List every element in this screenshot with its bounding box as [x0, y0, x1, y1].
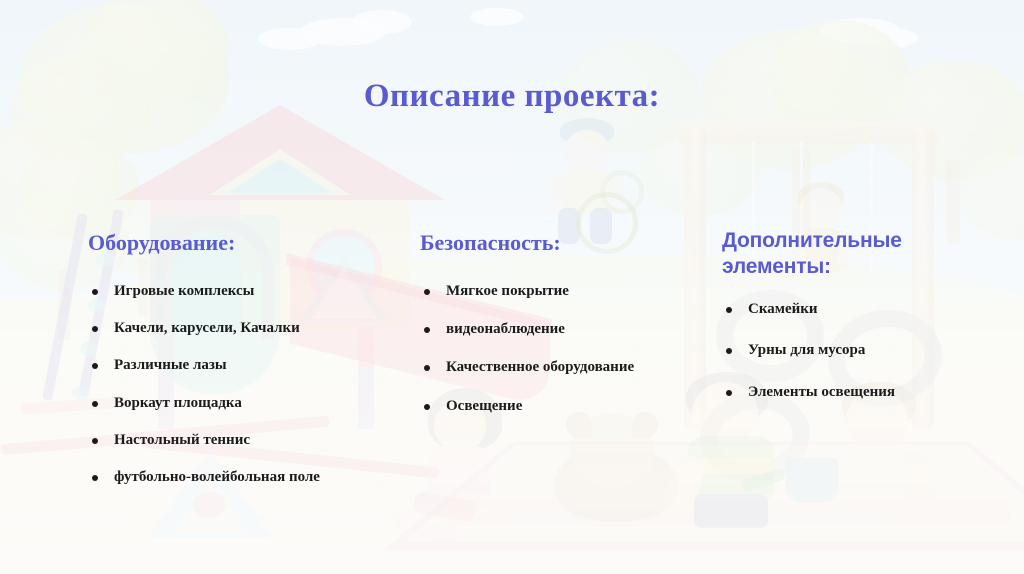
equipment-list: Игровые комплексы Качели, карусели, Кача… — [88, 283, 320, 487]
list-item: Воркаут площадка — [88, 395, 320, 412]
list-item: Мягкое покрытие — [420, 283, 634, 300]
presentation-slide: Описание проекта: Оборудование: Игровые … — [0, 0, 1024, 574]
column-extra-elements: Дополнительные элементы: Скамейки Урны д… — [722, 228, 962, 425]
list-item: футбольно-волейбольная поле — [88, 469, 320, 486]
list-item: Качели, карусели, Качалки — [88, 320, 320, 337]
list-item: Различные лазы — [88, 357, 320, 374]
column-heading-safety: Безопасность: — [420, 230, 634, 257]
list-item: Скамейки — [722, 301, 962, 318]
list-item: Элементы освещения — [722, 384, 962, 401]
slide-content: Описание проекта: Оборудование: Игровые … — [0, 0, 1024, 574]
list-item: Качественное оборудование — [420, 359, 634, 376]
safety-list: Мягкое покрытие видеонаблюдение Качестве… — [420, 283, 634, 415]
page-title: Описание проекта: — [0, 78, 1024, 115]
column-equipment: Оборудование: Игровые комплексы Качели, … — [88, 230, 320, 506]
list-item: видеонаблюдение — [420, 321, 634, 338]
list-item: Освещение — [420, 398, 634, 415]
list-item: Игровые комплексы — [88, 283, 320, 300]
column-heading-extra-elements: Дополнительные элементы: — [722, 228, 962, 279]
extra-elements-list: Скамейки Урны для мусора Элементы освеще… — [722, 301, 962, 401]
list-item: Урны для мусора — [722, 342, 962, 359]
list-item: Настольный теннис — [88, 432, 320, 449]
column-safety: Безопасность: Мягкое покрытие видеонаблю… — [420, 230, 634, 436]
column-heading-equipment: Оборудование: — [88, 230, 320, 257]
